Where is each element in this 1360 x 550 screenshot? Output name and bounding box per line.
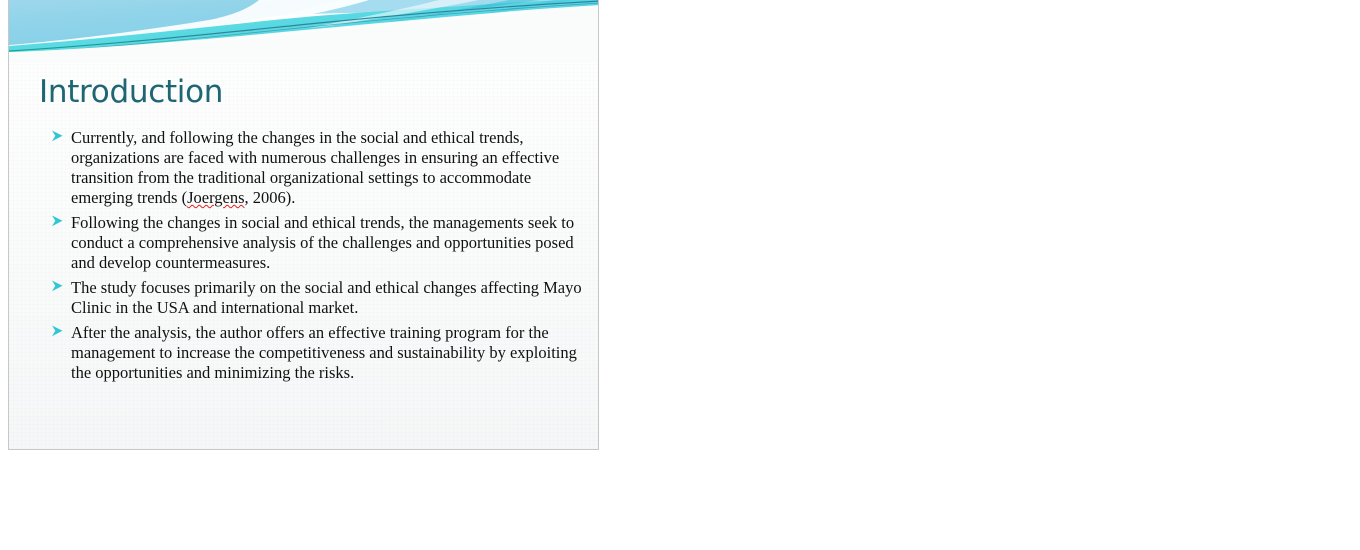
flow-theme-wave-graphic <box>9 0 599 62</box>
slide-body-content: Currently, and following the changes in … <box>49 128 589 388</box>
bullet-text: After the analysis, the author offers an… <box>71 323 577 382</box>
bullet-text: Following the changes in social and ethi… <box>71 213 574 272</box>
arrowhead-right-icon <box>51 279 65 295</box>
bullet-item: Following the changes in social and ethi… <box>49 213 589 273</box>
arrowhead-right-icon <box>51 129 65 145</box>
bullet-item: After the analysis, the author offers an… <box>49 323 589 383</box>
arrowhead-right-icon <box>51 324 65 340</box>
page-canvas: Introduction Currently, and following th… <box>0 0 1360 550</box>
spellcheck-error-word: Joergens <box>187 188 244 207</box>
bullet-item: The study focuses primarily on the socia… <box>49 278 589 318</box>
bullet-text: The study focuses primarily on the socia… <box>71 278 582 317</box>
bullet-item: Currently, and following the changes in … <box>49 128 589 208</box>
bullet-text: Currently, and following the changes in … <box>71 128 559 207</box>
presentation-slide[interactable]: Introduction Currently, and following th… <box>8 0 599 450</box>
arrowhead-right-icon <box>51 214 65 230</box>
slide-title: Introduction <box>39 74 223 110</box>
